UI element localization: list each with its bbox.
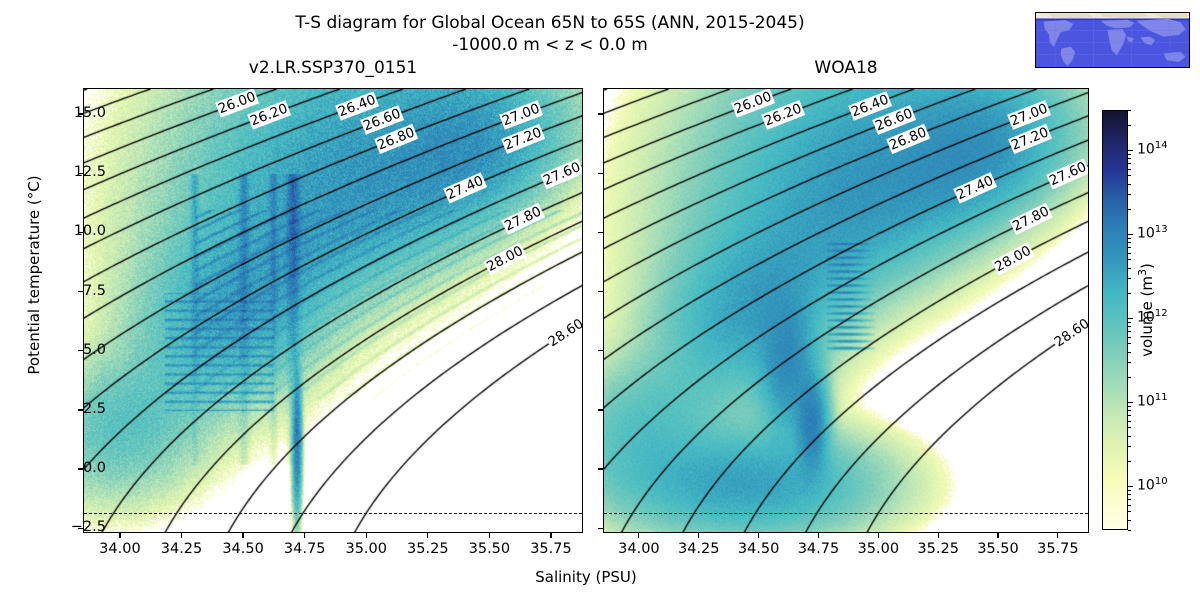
colorbar-minor-tick [1128,362,1131,363]
world-map-svg [1036,13,1189,67]
colorbar-minor-tick [1128,293,1131,294]
colorbar-minor-tick [1128,331,1131,332]
colorbar-tick-mark [1128,150,1133,151]
x-tick-label: 34.75 [270,541,340,557]
panel-observations-axes: 26.0026.2026.4026.6026.8027.0027.2027.40… [603,88,1089,533]
y-tick-label: 5.0 [46,342,106,358]
x-tick-mark [242,533,243,538]
colorbar-minor-tick [1128,520,1131,521]
colorbar-minor-tick [1128,326,1131,327]
y-tick-mark [78,409,83,410]
colorbar-tick-label: 1012 [1137,308,1168,326]
y-tick-mark [78,232,83,233]
colorbar-tick-mark [1128,486,1133,487]
colorbar-minor-tick [1128,259,1131,260]
x-tick-mark [997,533,998,538]
colorbar-minor-tick [1128,406,1131,407]
y-tick-mark [598,291,603,292]
colorbar-minor-tick [1128,163,1131,164]
x-tick-label: 35.50 [454,541,524,557]
y-tick-mark [78,291,83,292]
colorbar-minor-tick [1128,169,1131,170]
colorbar-minor-tick [1128,337,1131,338]
x-tick-label: 34.25 [147,541,217,557]
colorbar-minor-tick [1128,209,1131,210]
x-tick-mark [489,533,490,538]
y-tick-mark [598,113,603,114]
colorbar-minor-tick [1128,410,1131,411]
colorbar-minor-tick [1128,421,1131,422]
x-tick-label: 34.50 [208,541,278,557]
x-tick-mark [878,533,879,538]
colorbar-minor-tick [1128,461,1131,462]
y-tick-label: 15.0 [46,105,106,121]
x-tick-mark [119,533,120,538]
colorbar-minor-tick [1128,175,1131,176]
colorbar-minor-tick [1128,343,1131,344]
colorbar-minor-tick [1128,253,1131,254]
colorbar-minor-tick [1128,530,1131,531]
freezing-point-line [604,513,1088,514]
colorbar-tick-label: 1010 [1137,476,1168,494]
colorbar-minor-tick [1128,194,1131,195]
colorbar-tick-label: 1014 [1137,140,1168,158]
colorbar-minor-tick [1128,490,1131,491]
colorbar-minor-tick [1128,494,1131,495]
x-tick-mark [818,533,819,538]
figure-suptitle-line2: -1000.0 m < z < 0.0 m [0,34,1100,56]
x-tick-mark [181,533,182,538]
colorbar-minor-tick [1128,505,1131,506]
y-tick-label: 10.0 [46,223,106,239]
colorbar-minor-tick [1128,154,1131,155]
panel-model-axes: 26.0026.2026.4026.6026.8027.0027.2027.40… [83,88,583,533]
observations-density-field: 26.0026.2026.4026.6026.8027.0027.2027.40… [604,89,1088,532]
model-volume-heatmap [84,89,583,533]
y-tick-mark [78,113,83,114]
x-tick-mark [366,533,367,538]
x-tick-label: 35.75 [516,541,586,557]
colorbar-minor-tick [1128,184,1131,185]
colorbar-minor-tick [1128,242,1131,243]
colorbar-minor-tick [1128,238,1131,239]
y-tick-label: 0.0 [46,460,106,476]
x-tick-mark [758,533,759,538]
y-tick-mark [78,468,83,469]
y-tick-mark [598,173,603,174]
x-axis-label: Salinity (PSU) [83,568,1089,586]
x-tick-mark [698,533,699,538]
colorbar-minor-tick [1128,322,1131,323]
y-tick-label: 2.5 [46,401,106,417]
colorbar-minor-tick [1128,427,1131,428]
x-tick-label: 35.75 [1023,541,1093,557]
colorbar-tick-label: 1011 [1137,392,1168,410]
freezing-point-line [84,513,582,514]
colorbar-minor-tick [1128,352,1131,353]
colorbar-minor-tick [1128,268,1131,269]
y-tick-mark [598,232,603,233]
colorbar-minor-tick [1128,436,1131,437]
panel-title-observations: WOA18 [603,58,1089,78]
y-tick-mark [598,528,603,529]
model-density-field: 26.0026.2026.4026.6026.8027.0027.2027.40… [84,89,582,532]
x-tick-mark [550,533,551,538]
x-tick-mark [427,533,428,538]
x-tick-mark [638,533,639,538]
y-tick-mark [598,468,603,469]
y-tick-mark [598,409,603,410]
panel-title-model: v2.LR.SSP370_0151 [83,58,583,78]
y-tick-label: 7.5 [46,283,106,299]
colorbar-minor-tick [1128,110,1131,111]
colorbar-minor-tick [1128,415,1131,416]
colorbar-tick-mark [1128,402,1133,403]
y-axis-label: Potential temperature (°C) [25,55,43,495]
y-tick-mark [78,528,83,529]
colorbar-tick-mark [1128,318,1133,319]
inset-region-map [1035,12,1190,68]
colorbar-minor-tick [1128,125,1131,126]
y-tick-label: −2.5 [46,519,106,535]
figure-suptitle-line1: T-S diagram for Global Ocean 65N to 65S … [0,12,1100,34]
colorbar-minor-tick [1128,377,1131,378]
x-tick-mark [304,533,305,538]
y-tick-mark [598,350,603,351]
colorbar-minor-tick [1128,446,1131,447]
y-tick-mark [78,173,83,174]
x-tick-label: 34.00 [85,541,155,557]
colorbar [1102,110,1128,530]
x-tick-mark [1057,533,1058,538]
colorbar-minor-tick [1128,511,1131,512]
colorbar-minor-tick [1128,247,1131,248]
y-tick-label: 12.5 [46,164,106,180]
x-tick-label: 35.00 [331,541,401,557]
x-tick-label: 35.25 [393,541,463,557]
colorbar-minor-tick [1128,158,1131,159]
observations-volume-heatmap [604,89,1089,533]
colorbar-tick-label: 1013 [1137,224,1168,242]
colorbar-tick-mark [1128,234,1133,235]
y-tick-mark [78,350,83,351]
colorbar-minor-tick [1128,499,1131,500]
colorbar-minor-tick [1128,278,1131,279]
x-tick-mark [938,533,939,538]
